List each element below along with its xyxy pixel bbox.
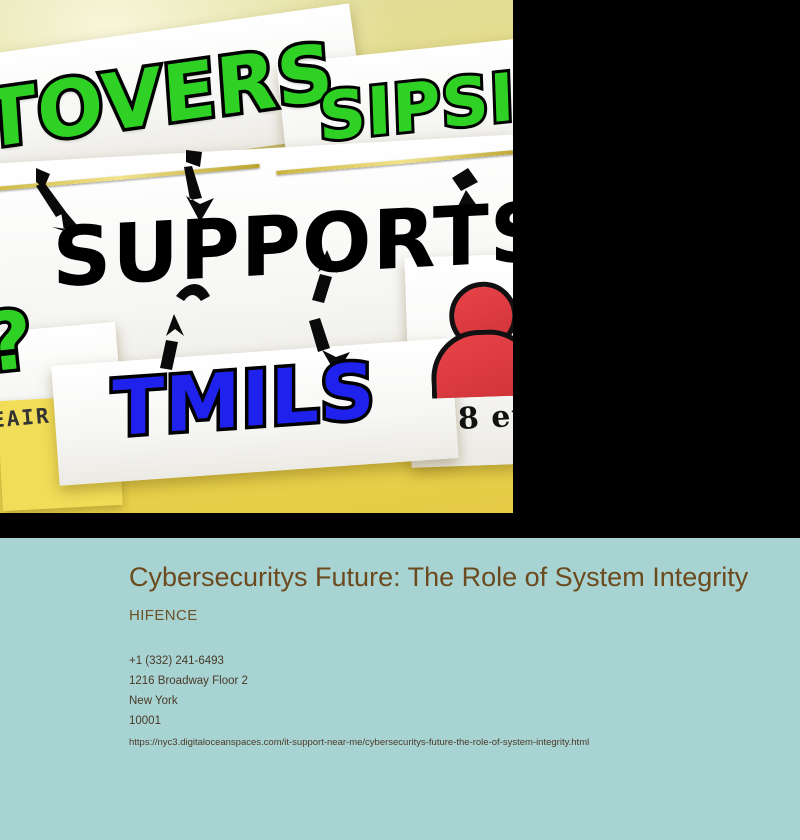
word-eight-eu: 8 eu	[457, 401, 513, 435]
contact-phone: +1 (332) 241-6493	[129, 652, 749, 672]
brand-name: HIFENCE	[129, 607, 749, 624]
source-url: https://nyc3.digitaloceanspaces.com/it-s…	[129, 737, 749, 748]
info-content: Cybersecuritys Future: The Role of Syste…	[129, 562, 749, 748]
info-panel: Cybersecuritys Future: The Role of Syste…	[0, 538, 800, 840]
page-root: TOVERS SIPSID SUPPORTS TMILS ? EAIR 8 eu…	[0, 0, 800, 840]
word-scribble: EAIR	[0, 405, 51, 431]
contact-zip: 10001	[129, 712, 749, 732]
page-title: Cybersecuritys Future: The Role of Syste…	[129, 562, 749, 593]
word-tmils: TMILS	[112, 353, 375, 448]
contact-address: 1216 Broadway Floor 2	[129, 672, 749, 692]
contact-city: New York	[129, 692, 749, 712]
photo-area: TOVERS SIPSID SUPPORTS TMILS ? EAIR 8 eu	[0, 0, 800, 538]
signs-photo: TOVERS SIPSID SUPPORTS TMILS ? EAIR 8 eu	[0, 0, 513, 513]
contact-block: +1 (332) 241-6493 1216 Broadway Floor 2 …	[129, 652, 749, 731]
word-supports: SUPPORTS	[52, 192, 513, 300]
